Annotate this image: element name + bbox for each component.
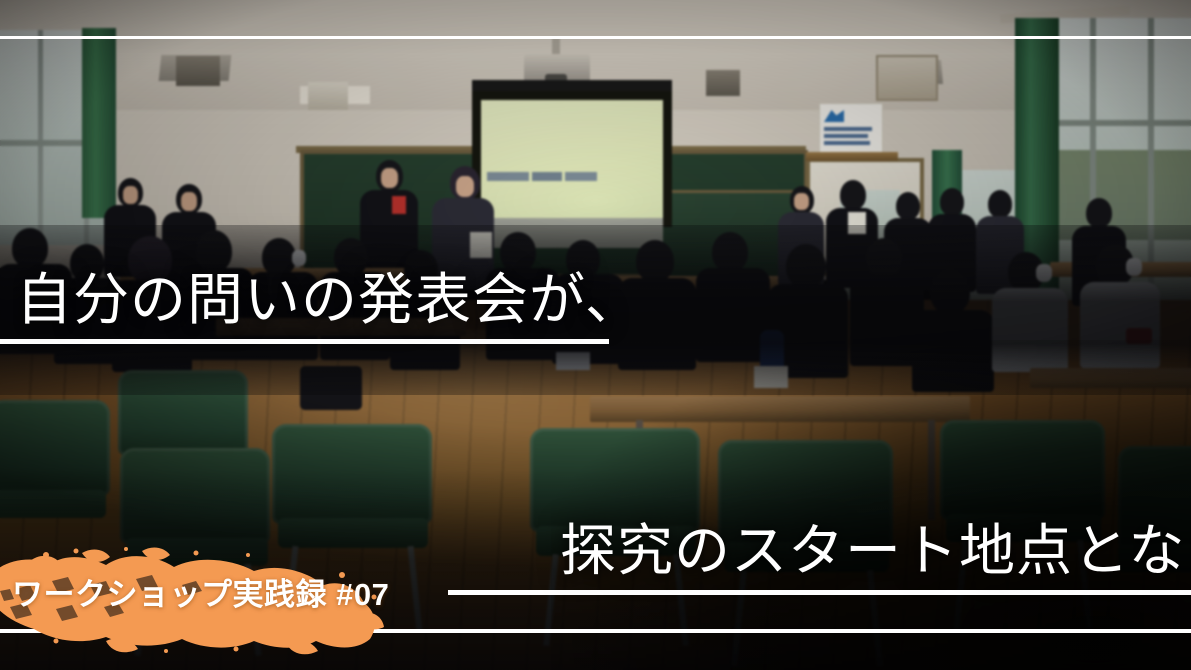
paper [754, 366, 788, 388]
desk [1030, 368, 1191, 388]
chair [940, 420, 1105, 520]
school-bag [300, 366, 362, 410]
headline-underline-2 [448, 590, 1191, 595]
poster-text-line [824, 141, 870, 145]
headline-line-2: 探究のスタート地点となる。 [560, 524, 1191, 580]
wall-shelf [806, 152, 898, 161]
eyecatch-card: 自分の問いの発表会が、 探究のスタート地点となる。 [0, 0, 1191, 670]
desk-leg [928, 420, 935, 520]
chair-seat [0, 490, 106, 518]
chair [530, 428, 700, 532]
chair [118, 370, 248, 456]
wall-speaker [706, 70, 740, 96]
poster-text-line [824, 127, 872, 131]
chair-seat [278, 518, 428, 548]
desk [590, 396, 970, 422]
top-divider [0, 36, 1191, 39]
window-foliage [1048, 150, 1191, 240]
poster-text-line [824, 134, 868, 138]
wall-cabinet [876, 55, 938, 101]
window-mullion [1048, 120, 1191, 126]
pencil-case [1126, 328, 1152, 344]
headline-underline-1 [0, 339, 609, 344]
series-badge-label: ワークショップ実践録 #07 [12, 569, 389, 614]
projection-screen-caption [487, 172, 597, 181]
projection-screen [481, 100, 663, 218]
wall-speaker [176, 56, 220, 86]
window-mullion [38, 30, 43, 245]
chair [120, 448, 270, 544]
chair [0, 400, 110, 496]
left-curtain [82, 28, 116, 218]
wall-panel [308, 82, 348, 110]
notebook [556, 352, 590, 370]
headline-line-1: 自分の問いの発表会が、 [16, 273, 642, 329]
chair [272, 424, 432, 524]
